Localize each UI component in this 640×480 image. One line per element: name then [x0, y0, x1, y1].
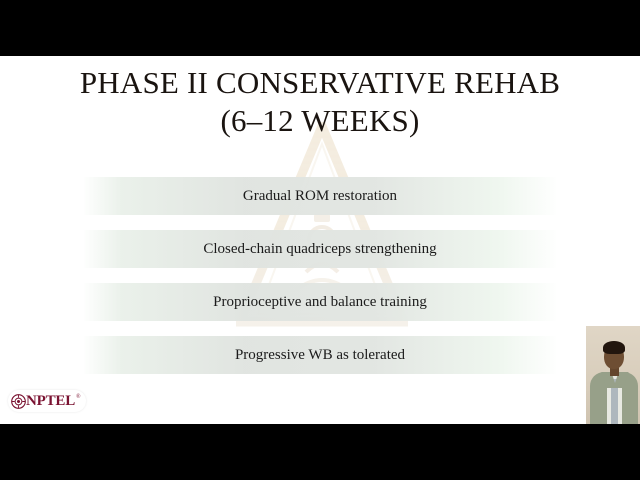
slide-title-line-1: PHASE II CONSERVATIVE REHAB	[0, 64, 640, 102]
presenter-hair	[603, 341, 625, 354]
slide-title: PHASE II CONSERVATIVE REHAB (6–12 WEEKS)	[0, 64, 640, 140]
presenter-webcam-inset	[586, 326, 640, 424]
bullet-label: Proprioceptive and balance training	[213, 293, 427, 311]
video-player-frame: PHASE II CONSERVATIVE REHAB (6–12 WEEKS)…	[0, 0, 640, 480]
bullet-bar: Proprioceptive and balance training	[84, 283, 556, 321]
letterbox-bar-top	[0, 0, 640, 56]
bullet-label: Gradual ROM restoration	[243, 187, 397, 205]
bullet-bar: Progressive WB as tolerated	[84, 336, 556, 374]
bullet-bar: Gradual ROM restoration	[84, 177, 556, 215]
bullet-label: Progressive WB as tolerated	[235, 346, 405, 364]
letterbox-bar-bottom	[0, 424, 640, 480]
bullet-label: Closed-chain quadriceps strengthening	[203, 240, 436, 258]
nptel-emblem-icon	[11, 394, 26, 409]
presentation-slide: PHASE II CONSERVATIVE REHAB (6–12 WEEKS)…	[0, 56, 640, 424]
nptel-trademark-symbol: ®	[76, 394, 81, 400]
nptel-logo: NPTEL ®	[8, 390, 86, 412]
nptel-wordmark: NPTEL	[26, 394, 75, 409]
slide-title-line-2: (6–12 WEEKS)	[0, 102, 640, 140]
bullet-bar: Closed-chain quadriceps strengthening	[84, 230, 556, 268]
slide-bullet-list: Gradual ROM restoration Closed-chain qua…	[0, 177, 640, 374]
